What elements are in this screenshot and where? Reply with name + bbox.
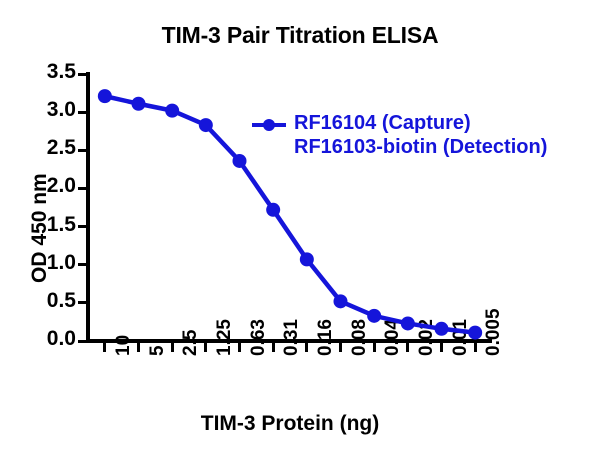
data-point: [165, 104, 179, 118]
data-point: [199, 118, 213, 132]
legend-entry-capture: RF16104 (Capture): [294, 112, 547, 136]
series-plot: [0, 0, 600, 457]
legend-marker-icon: [252, 112, 286, 138]
data-point: [334, 294, 348, 308]
legend: RF16104 (Capture) RF16103-biotin (Detect…: [252, 112, 547, 159]
legend-text: RF16104 (Capture) RF16103-biotin (Detect…: [294, 112, 547, 159]
data-point: [132, 97, 146, 111]
data-point: [233, 154, 247, 168]
legend-entry-detection: RF16103-biotin (Detection): [294, 136, 547, 160]
data-point: [300, 252, 314, 266]
chart-figure: TIM-3 Pair Titration ELISA 0.00.51.01.52…: [0, 0, 600, 457]
data-point: [468, 326, 482, 340]
data-point: [435, 322, 449, 336]
data-point: [98, 89, 112, 103]
data-point: [401, 316, 415, 330]
data-point: [266, 203, 280, 217]
data-point: [367, 309, 381, 323]
